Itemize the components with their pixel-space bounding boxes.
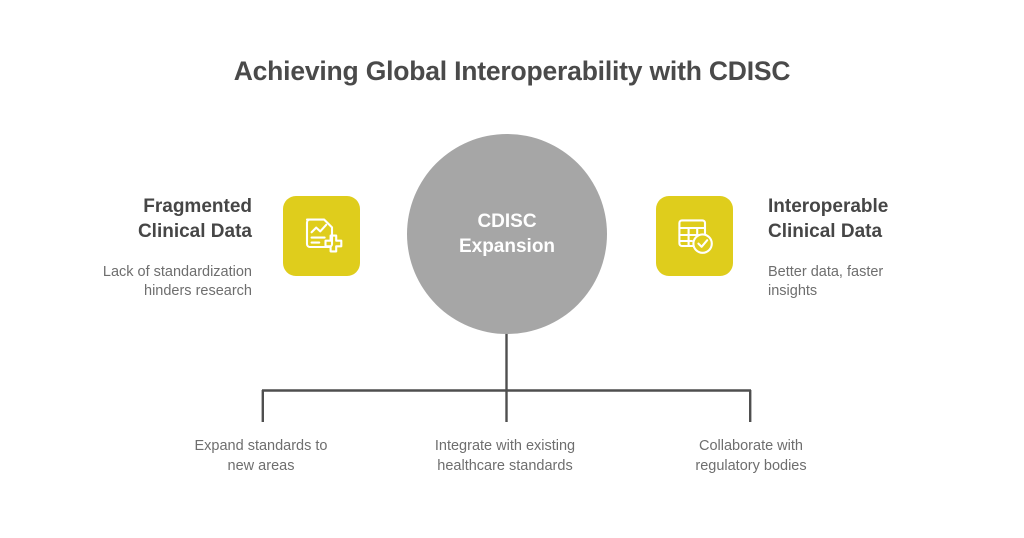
left-concept-text: Fragmented Clinical Data Lack of standar… [42,194,252,302]
center-node-label-line2: Expansion [459,236,555,257]
branch-label-integrate-healthcare: Integrate with existing healthcare stand… [390,437,620,476]
branch-label-line1: Expand standards to [194,438,327,454]
left-concept-heading-line1: Fragmented [143,196,252,217]
center-node-cdisc-expansion: CDISC Expansion [407,134,607,334]
left-concept-subtext-line2: hinders research [144,283,252,299]
left-icon-tile [283,196,360,276]
medical-document-plus-icon [299,213,345,259]
left-concept-subtext-line1: Lack of standardization [103,264,252,280]
right-icon-tile [656,196,733,276]
branch-label-collaborate-regulatory: Collaborate with regulatory bodies [636,437,866,476]
branch-label-line1: Collaborate with [699,438,803,454]
branch-label-line1: Integrate with existing [435,438,575,454]
right-concept-heading-line2: Clinical Data [768,221,882,242]
infographic-canvas: Achieving Global Interoperability with C… [0,0,1024,538]
branch-label-line2: regulatory bodies [695,458,806,474]
branch-label-line2: healthcare standards [437,458,572,474]
right-concept-subtext: Better data, faster insights [768,263,978,302]
branch-label-line2: new areas [228,458,295,474]
left-concept-subtext: Lack of standardization hinders research [42,263,252,302]
right-concept-text: Interoperable Clinical Data Better data,… [768,194,978,302]
center-node-label-line1: CDISC [477,211,536,232]
center-node-label: CDISC Expansion [432,209,582,259]
right-concept-heading-line1: Interoperable [768,196,888,217]
left-concept-heading-line2: Clinical Data [138,221,252,242]
left-concept-heading: Fragmented Clinical Data [42,194,252,245]
branch-label-expand-standards: Expand standards to new areas [146,437,376,476]
table-check-icon [672,213,718,259]
right-concept-heading: Interoperable Clinical Data [768,194,978,245]
right-concept-subtext-line2: insights [768,283,817,299]
right-concept-subtext-line1: Better data, faster [768,264,883,280]
page-title: Achieving Global Interoperability with C… [0,56,1024,87]
